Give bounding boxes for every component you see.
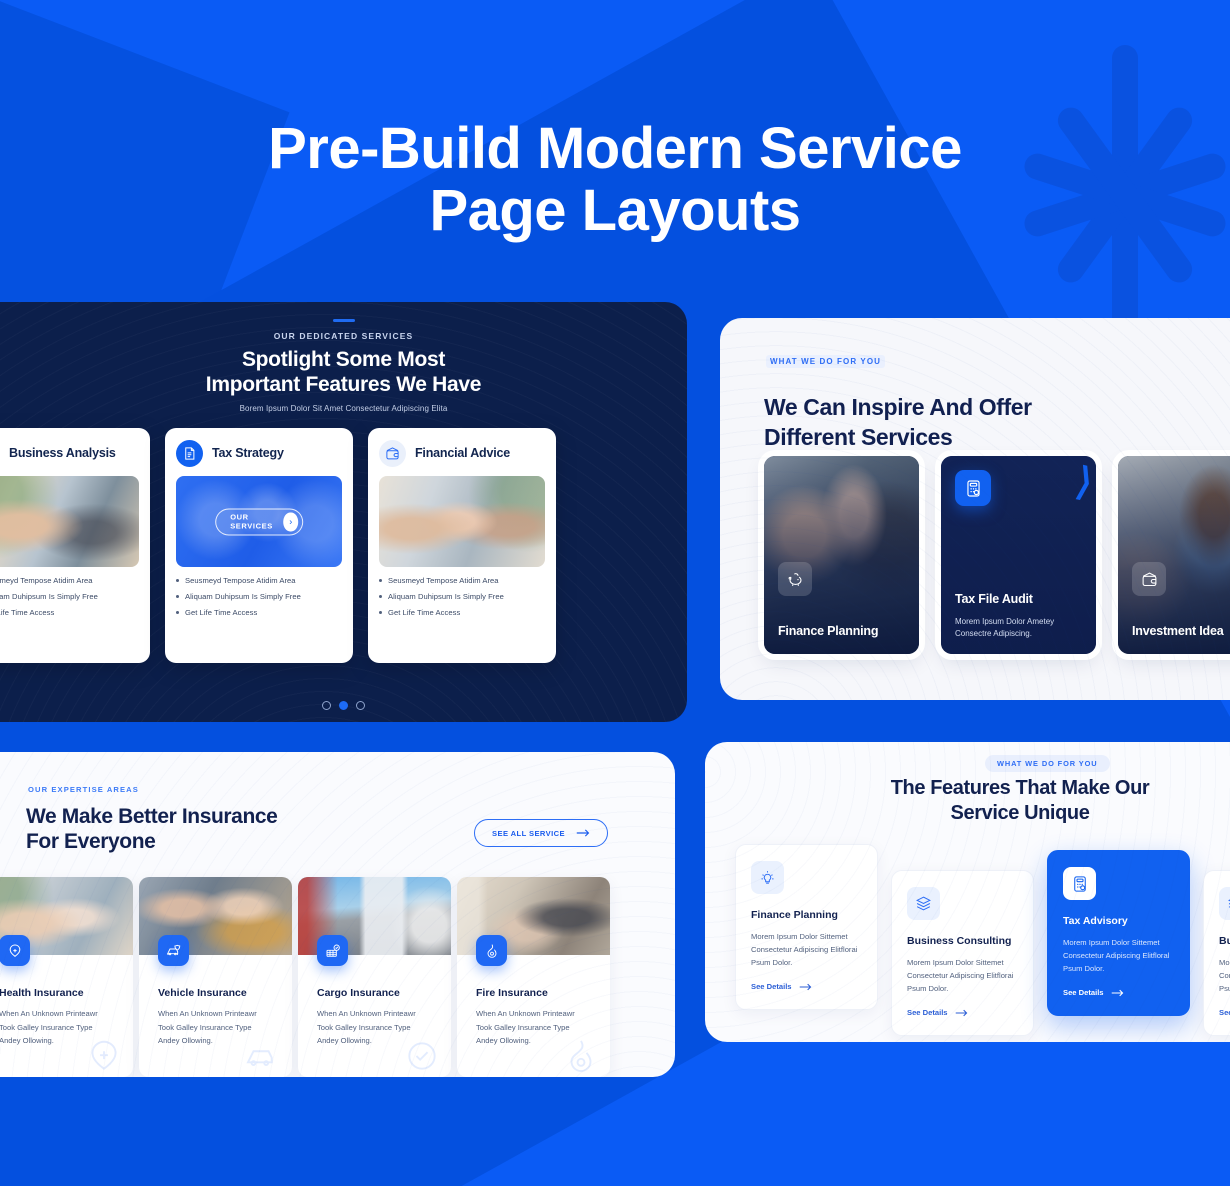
insurance-expertise-panel: OUR EXPERTISE AREAS We Make Better Insur… xyxy=(0,752,675,1077)
features-eyebrow: WHAT WE DO FOR YOU xyxy=(985,755,1110,772)
inspire-heading-line-2: Different Services xyxy=(764,422,1164,452)
see-details-label: See Details xyxy=(751,982,792,991)
fire-icon xyxy=(476,935,507,966)
list-item: Seusmeyd Tempose Atidim Area xyxy=(176,576,342,585)
insurance-card[interactable]: Health Insurance When An Unknown Printea… xyxy=(0,877,133,1077)
feature-card-active[interactable]: Tax Advisory Morem Ipsum Dolor Sittemet … xyxy=(1047,850,1190,1016)
insurance-card-body: Cargo Insurance When An Unknown Printeaw… xyxy=(298,955,451,1048)
services-heading-line-2: Important Features We Have xyxy=(0,372,687,397)
services-spotlight-panel: OUR DEDICATED SERVICES Spotlight Some Mo… xyxy=(0,302,687,722)
insurance-card[interactable]: Cargo Insurance When An Unknown Printeaw… xyxy=(298,877,451,1077)
insurance-card-body: Vehicle Insurance When An Unknown Printe… xyxy=(139,955,292,1048)
service-card-title: Financial Advice xyxy=(415,446,510,460)
insurance-card-image xyxy=(139,877,292,955)
list-item: Seusmeyd Tempose Atidim Area xyxy=(379,576,545,585)
feature-card-text: Morem Ipsum Dolor Sittemet Consectetur A… xyxy=(751,930,862,969)
unique-features-panel: WHAT WE DO FOR YOU The Features That Mak… xyxy=(705,742,1230,1042)
insurance-heading-line-2: For Everyone xyxy=(26,829,356,854)
services-heading-line-1: Spotlight Some Most xyxy=(0,347,687,372)
features-heading-line-2: Service Unique xyxy=(795,801,1230,826)
insurance-card[interactable]: Vehicle Insurance When An Unknown Printe… xyxy=(139,877,292,1077)
inspire-heading: We Can Inspire And Offer Different Servi… xyxy=(764,392,1164,452)
list-item: Aliquam Duhipsum Is Simply Free xyxy=(379,592,545,601)
services-card-carousel: Business Analysis Seusmeyd Tempose Atidi… xyxy=(0,428,687,668)
insurance-card-title: Health Insurance xyxy=(0,987,114,999)
wallet-icon xyxy=(379,440,406,467)
inspire-card-list: Finance Planning ⟩ Tax File Audit Morem … xyxy=(764,456,1230,654)
page-title-line-2: Page Layouts xyxy=(0,180,1230,242)
see-details-link[interactable]: See Details xyxy=(907,1008,1018,1017)
features-heading-line-1: The Features That Make Our xyxy=(795,776,1230,801)
divider-dash xyxy=(333,319,355,322)
see-details-label: See Details xyxy=(907,1008,948,1017)
insurance-card-body: Fire Insurance When An Unknown Printeawr… xyxy=(457,955,610,1048)
inspire-card-title: Finance Planning xyxy=(778,624,878,638)
list-item: Get Life Time Access xyxy=(379,608,545,617)
piggy-bank-icon xyxy=(778,562,812,596)
health-shield-watermark-icon xyxy=(85,1037,123,1075)
list-item: Aliquam Duhipsum Is Simply Free xyxy=(0,592,139,601)
page-title-line-1: Pre-Build Modern Service xyxy=(268,116,962,181)
arrow-right-icon xyxy=(1111,989,1124,997)
insurance-card-title: Vehicle Insurance xyxy=(158,987,273,999)
inspire-card-title: Investment Idea xyxy=(1132,624,1223,638)
service-card[interactable]: Tax Strategy OUR SERVICES › Seusmeyd Tem… xyxy=(165,428,353,663)
tax-document-icon xyxy=(176,440,203,467)
feature-card-title: Tax Advisory xyxy=(1063,915,1174,927)
insurance-card-title: Cargo Insurance xyxy=(317,987,432,999)
features-card-list: Finance Planning Morem Ipsum Dolor Sitte… xyxy=(735,844,1230,1036)
feature-card-title: Business Consulting xyxy=(907,935,1018,947)
features-heading: The Features That Make Our Service Uniqu… xyxy=(795,776,1230,826)
feature-card[interactable]: Business Consulting Morem Ipsum Dolor Si… xyxy=(891,870,1034,1036)
see-details-link[interactable]: See Details xyxy=(1219,1008,1230,1017)
car-shield-icon xyxy=(158,935,189,966)
service-card-header: Financial Advice xyxy=(379,438,545,468)
list-item: Seusmeyd Tempose Atidim Area xyxy=(0,576,139,585)
see-details-link[interactable]: See Details xyxy=(751,982,862,991)
health-shield-icon xyxy=(0,935,30,966)
feature-card[interactable]: Business Consulting Morem Ipsum Dolor Si… xyxy=(1203,870,1230,1036)
insurance-heading: We Make Better Insurance For Everyone xyxy=(26,804,356,854)
inspire-card-featured[interactable]: ⟩ Tax File Audit Morem Ipsum Dolor Amete… xyxy=(941,456,1096,654)
cargo-check-watermark-icon xyxy=(403,1037,441,1075)
insurance-card-image xyxy=(0,877,133,955)
bulb-icon xyxy=(751,861,784,894)
fire-watermark-icon xyxy=(562,1037,600,1075)
carousel-dot[interactable] xyxy=(322,701,331,710)
wallet-icon xyxy=(1132,562,1166,596)
calculator-icon xyxy=(955,470,991,506)
service-card-title: Business Analysis xyxy=(9,446,116,460)
service-card[interactable]: Business Analysis Seusmeyd Tempose Atidi… xyxy=(0,428,150,663)
inspire-card[interactable]: Investment Idea xyxy=(1118,456,1230,654)
inspire-heading-line-1: We Can Inspire And Offer xyxy=(764,392,1164,422)
insurance-card-body: Health Insurance When An Unknown Printea… xyxy=(0,955,133,1048)
insurance-card-list: Health Insurance When An Unknown Printea… xyxy=(0,877,610,1077)
layers-icon xyxy=(1219,887,1230,920)
see-details-link[interactable]: See Details xyxy=(1063,988,1174,997)
feature-card-text: Morem Ipsum Dolor Sittemet Consectetur A… xyxy=(1219,956,1230,995)
service-card-image xyxy=(0,476,139,567)
service-card-title: Tax Strategy xyxy=(212,446,284,460)
see-details-label: See Details xyxy=(1063,988,1104,997)
feature-card-text: Morem Ipsum Dolor Sittemet Consectetur A… xyxy=(907,956,1018,995)
service-card[interactable]: Financial Advice Seusmeyd Tempose Atidim… xyxy=(368,428,556,663)
see-all-service-button[interactable]: SEE ALL SERVICE xyxy=(474,819,608,847)
cargo-check-icon xyxy=(317,935,348,966)
list-item: Aliquam Duhipsum Is Simply Free xyxy=(176,592,342,601)
arrow-right-icon xyxy=(799,983,812,991)
layers-icon xyxy=(907,887,940,920)
our-services-button-label: OUR SERVICES xyxy=(230,513,277,531)
feature-card[interactable]: Finance Planning Morem Ipsum Dolor Sitte… xyxy=(735,844,878,1010)
insurance-card-image xyxy=(298,877,451,955)
services-subtitle: Borem Ipsum Dolor Sit Amet Consectetur A… xyxy=(0,404,687,413)
inspire-card-title: Tax File Audit xyxy=(955,592,1033,606)
service-card-image xyxy=(379,476,545,567)
service-card-bullets: Seusmeyd Tempose Atidim Area Aliquam Duh… xyxy=(0,576,139,617)
services-eyebrow: OUR DEDICATED SERVICES xyxy=(0,331,687,341)
carousel-dot-active[interactable] xyxy=(339,701,348,710)
feature-card-title: Finance Planning xyxy=(751,909,862,921)
list-item: Get Life Time Access xyxy=(176,608,342,617)
inspire-eyebrow: WHAT WE DO FOR YOU xyxy=(766,355,885,368)
service-card-bullets: Seusmeyd Tempose Atidim Area Aliquam Duh… xyxy=(379,576,545,617)
feature-card-title: Business Consulting xyxy=(1219,935,1230,947)
inspire-card[interactable]: Finance Planning xyxy=(764,456,919,654)
services-panel-header: OUR DEDICATED SERVICES Spotlight Some Mo… xyxy=(0,302,687,413)
service-card-header: Tax Strategy xyxy=(176,438,342,468)
inspire-card-description: Morem Ipsum Dolor Ametey Consectre Adipi… xyxy=(955,616,1087,640)
service-card-header: Business Analysis xyxy=(0,438,139,468)
carousel-dot[interactable] xyxy=(356,701,365,710)
page-title: Pre-Build Modern Service Page Layouts xyxy=(0,118,1230,242)
carousel-pagination[interactable] xyxy=(0,701,687,710)
see-all-service-label: SEE ALL SERVICE xyxy=(492,829,565,838)
calculator-icon xyxy=(1063,867,1096,900)
arrow-right-icon xyxy=(955,1009,968,1017)
insurance-card-title: Fire Insurance xyxy=(476,987,591,999)
car-shield-watermark-icon xyxy=(244,1037,282,1075)
our-services-button[interactable]: OUR SERVICES › xyxy=(215,508,303,535)
feature-card-text: Morem Ipsum Dolor Sittemet Consectetur A… xyxy=(1063,936,1174,975)
service-card-image: OUR SERVICES › xyxy=(176,476,342,567)
insurance-card[interactable]: Fire Insurance When An Unknown Printeawr… xyxy=(457,877,610,1077)
arrow-right-icon xyxy=(576,828,590,838)
list-item: Get Life Time Access xyxy=(0,608,139,617)
service-card-bullets: Seusmeyd Tempose Atidim Area Aliquam Duh… xyxy=(176,576,342,617)
insurance-eyebrow: OUR EXPERTISE AREAS xyxy=(28,785,139,794)
services-heading: Spotlight Some Most Important Features W… xyxy=(0,347,687,397)
insurance-heading-line-1: We Make Better Insurance xyxy=(26,804,356,829)
insurance-card-image xyxy=(457,877,610,955)
inspire-services-panel: WHAT WE DO FOR YOU We Can Inspire And Of… xyxy=(720,318,1230,700)
chevron-right-icon: › xyxy=(284,512,298,531)
see-details-label: See Details xyxy=(1219,1008,1230,1017)
